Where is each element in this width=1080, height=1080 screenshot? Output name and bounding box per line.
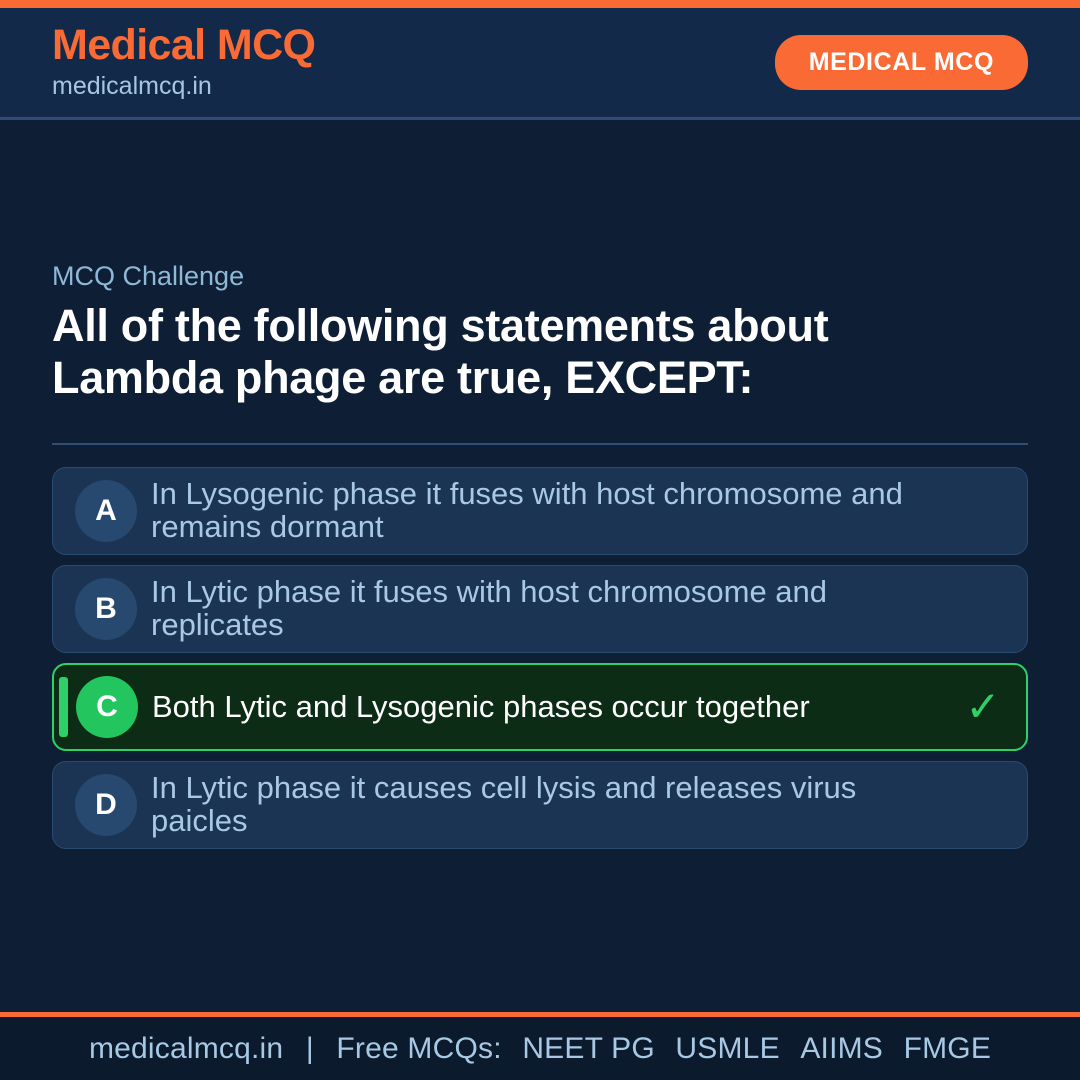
section-divider (52, 443, 1028, 445)
footer-site: medicalmcq.in (89, 1032, 283, 1065)
mcq-card: Medical MCQ medicalmcq.in MEDICAL MCQ MC… (0, 0, 1080, 1080)
option-c[interactable]: C Both Lytic and Lysogenic phases occur … (52, 663, 1028, 751)
correct-accent-bar (59, 677, 68, 737)
footer: medicalmcq.in | Free MCQs: NEET PG USMLE… (0, 1012, 1080, 1080)
option-d[interactable]: D In Lytic phase it causes cell lysis an… (52, 761, 1028, 849)
option-text: In Lysogenic phase it fuses with host ch… (151, 478, 961, 544)
option-letter-badge: D (75, 774, 137, 836)
brand-title: Medical MCQ (52, 23, 315, 69)
option-letter-badge: C (76, 676, 138, 738)
question-text: All of the following statements about La… (52, 300, 992, 403)
option-a[interactable]: A In Lysogenic phase it fuses with host … (52, 467, 1028, 555)
footer-exam: AIIMS (800, 1032, 883, 1065)
brand-subtitle: medicalmcq.in (52, 71, 315, 102)
question-kicker: MCQ Challenge (52, 260, 1028, 292)
option-text: In Lytic phase it fuses with host chromo… (151, 576, 961, 642)
main-content: MCQ Challenge All of the following state… (0, 120, 1080, 1012)
footer-exam: FMGE (904, 1032, 991, 1065)
option-letter-badge: A (75, 480, 137, 542)
footer-exam: NEET PG (522, 1032, 655, 1065)
question-block: MCQ Challenge All of the following state… (52, 260, 1028, 403)
option-letter-badge: B (75, 578, 137, 640)
footer-exam: USMLE (675, 1032, 779, 1065)
footer-promo: Free MCQs: (336, 1032, 501, 1065)
footer-separator: | (292, 1032, 328, 1065)
top-accent-bar (0, 0, 1080, 8)
footer-exam-list: NEET PG USMLE AIIMS FMGE (510, 1032, 991, 1065)
option-text: Both Lytic and Lysogenic phases occur to… (152, 691, 960, 724)
brand: Medical MCQ medicalmcq.in (52, 23, 315, 102)
option-b[interactable]: B In Lytic phase it fuses with host chro… (52, 565, 1028, 653)
options-list: A In Lysogenic phase it fuses with host … (52, 467, 1028, 849)
check-icon: ✓ (960, 686, 1006, 728)
option-text: In Lytic phase it causes cell lysis and … (151, 772, 961, 838)
footer-text: medicalmcq.in | Free MCQs: NEET PG USMLE… (89, 1032, 991, 1066)
header: Medical MCQ medicalmcq.in MEDICAL MCQ (0, 8, 1080, 120)
header-badge: MEDICAL MCQ (775, 35, 1028, 90)
